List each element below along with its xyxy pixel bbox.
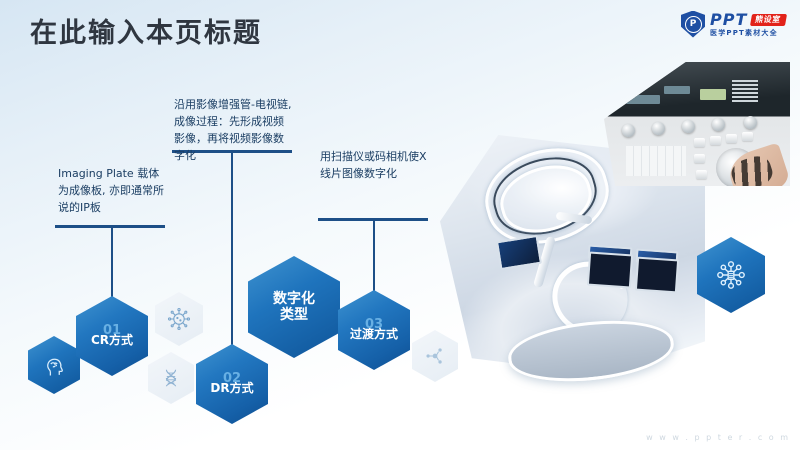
hexagon-transition-number: 03 bbox=[365, 318, 383, 331]
hexagon-center-label-1: 数字化 bbox=[273, 291, 315, 307]
callout-3-text: 用扫描仪或码相机使X线片图像数字化 bbox=[320, 148, 430, 182]
virus-hex bbox=[155, 292, 203, 346]
brain-head-icon bbox=[40, 351, 68, 379]
callout-1-leader bbox=[111, 225, 113, 305]
logo-shield-letter: P bbox=[685, 16, 702, 33]
shield-icon: P bbox=[681, 11, 705, 38]
page-title: 在此输入本页标题 bbox=[30, 18, 262, 50]
site-watermark: w w w . p p t e r . c o m bbox=[646, 433, 790, 442]
ultrasound-key-6 bbox=[696, 170, 707, 179]
ultrasound-key-1 bbox=[694, 138, 705, 147]
ultrasound-knob-3 bbox=[682, 120, 695, 133]
ultrasound-slider-bank bbox=[732, 80, 758, 102]
or-monitor-left bbox=[587, 252, 633, 289]
virus-icon bbox=[167, 307, 191, 331]
brain-head-hex bbox=[28, 336, 80, 394]
ultrasound-console-photo bbox=[604, 62, 790, 186]
hexagon-cr[interactable]: 01 CR方式 bbox=[76, 296, 148, 376]
callout-3-leader bbox=[373, 218, 375, 298]
ultrasound-key-4 bbox=[742, 132, 753, 141]
callout-1-underline bbox=[55, 225, 165, 228]
ultrasound-key-3 bbox=[726, 134, 737, 143]
hexagon-center-label-2: 类型 bbox=[280, 307, 308, 323]
hexagon-cr-number: 01 bbox=[103, 324, 121, 337]
ultrasound-knob-5 bbox=[744, 116, 757, 129]
hexagon-center[interactable]: 数字化 类型 bbox=[248, 256, 340, 358]
hexagon-dr[interactable]: 02 DR方式 bbox=[196, 344, 268, 424]
dna-hex bbox=[148, 352, 194, 404]
ultrasound-keyboard bbox=[626, 146, 686, 176]
callout-2-text: 沿用影像增强管-电视链, 成像过程：先形成视频影像，再将视频影像数字化 bbox=[174, 96, 292, 164]
ultrasound-display-green bbox=[700, 89, 726, 100]
ultrasound-upper-console bbox=[604, 62, 790, 117]
hexagon-dr-number: 02 bbox=[223, 372, 241, 385]
dna-icon bbox=[160, 367, 182, 389]
logo-text: PPT 熊设室 医学PPT素材大全 bbox=[710, 12, 786, 37]
molecule-hex bbox=[412, 330, 458, 382]
callout-1-text: Imaging Plate 载体为成像板, 亦即通常所说的IP板 bbox=[58, 165, 170, 216]
molecule-icon bbox=[424, 345, 446, 367]
ultrasound-knob-1 bbox=[622, 124, 635, 137]
slide-canvas: P PPT 熊设室 医学PPT素材大全 在此输入本页标题 bbox=[0, 0, 800, 450]
ultrasound-knob-2 bbox=[652, 122, 665, 135]
logo-brand: PPT bbox=[710, 12, 747, 28]
network-hub-hex bbox=[697, 237, 765, 313]
logo-brand-row: PPT 熊设室 bbox=[710, 12, 786, 28]
ultrasound-key-2 bbox=[710, 136, 721, 145]
logo-badge: 熊设室 bbox=[750, 14, 787, 26]
callout-2-leader bbox=[231, 150, 233, 348]
hexagon-transition[interactable]: 03 过渡方式 bbox=[338, 290, 410, 370]
ultrasound-display-mid bbox=[664, 86, 690, 94]
ultrasound-key-5 bbox=[694, 154, 705, 163]
ppt-logo[interactable]: P PPT 熊设室 医学PPT素材大全 bbox=[681, 6, 793, 42]
ultrasound-knob-4 bbox=[712, 118, 725, 131]
network-hub-icon bbox=[714, 258, 748, 292]
ultrasound-display-left bbox=[626, 95, 660, 104]
logo-tagline: 医学PPT素材大全 bbox=[710, 30, 786, 37]
or-monitor-right bbox=[635, 257, 679, 294]
